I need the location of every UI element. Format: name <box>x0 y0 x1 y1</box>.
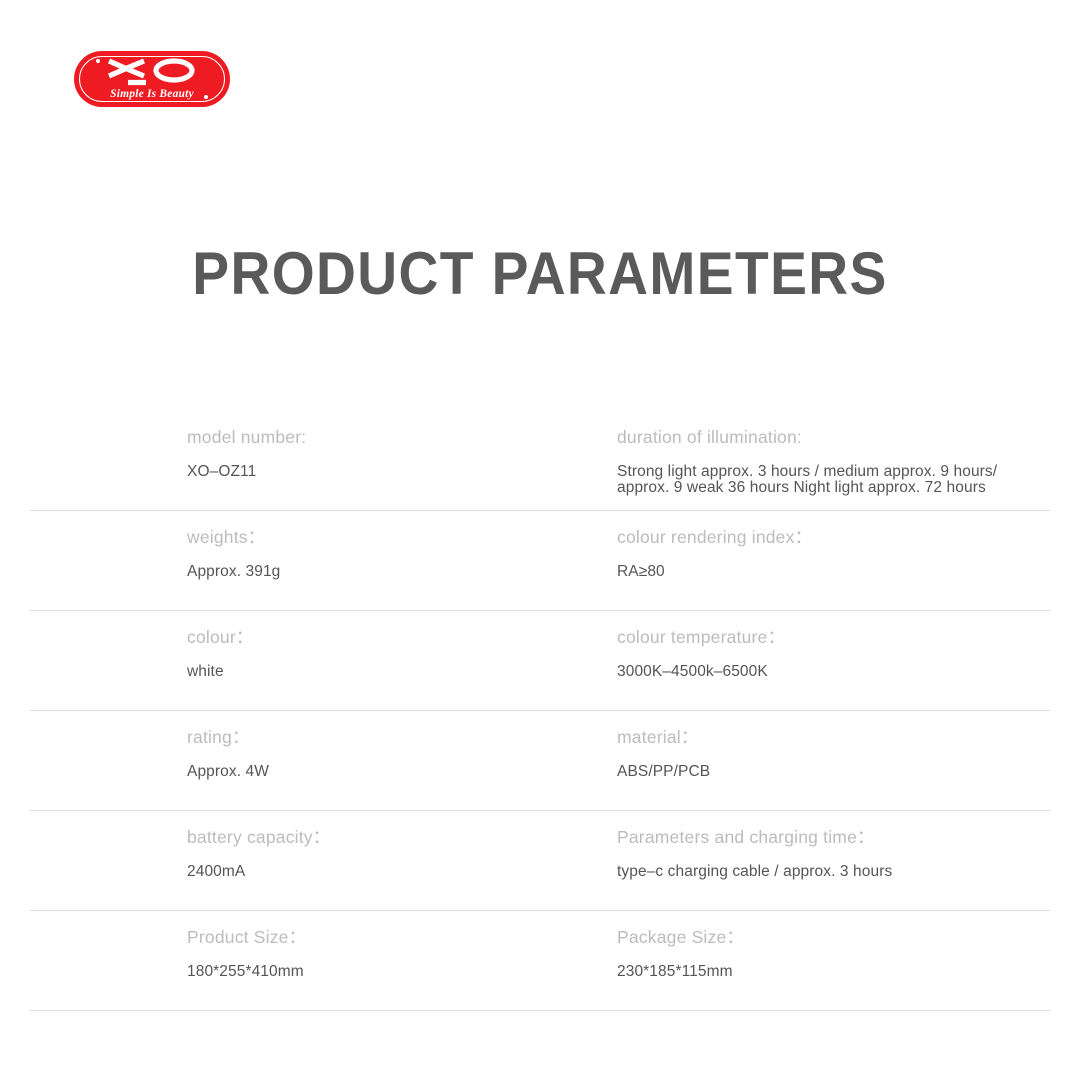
spec-label: colour rendering index： <box>617 526 812 548</box>
spec-cell-package-size: Package Size： 230*185*115mm <box>617 911 1050 1010</box>
spec-label: Product Size： <box>187 926 306 948</box>
spec-value: ABS/PP/PCB <box>617 763 710 780</box>
spec-value: 230*185*115mm <box>617 963 733 980</box>
spec-value: Approx. 391g <box>187 563 280 580</box>
spec-value: type–c charging cable / approx. 3 hours <box>617 863 892 880</box>
table-row: weights： Approx. 391g colour rendering i… <box>30 511 1050 611</box>
spec-cell-weights: weights： Approx. 391g <box>187 511 617 610</box>
spec-label: Parameters and charging time： <box>617 826 875 848</box>
logo-tagline: Simple Is Beauty <box>74 89 230 101</box>
spec-cell-colour-rendering-index: colour rendering index： RA≥80 <box>617 511 1050 610</box>
spec-cell-colour: colour： white <box>187 611 617 710</box>
spec-cell-battery-capacity: battery capacity： 2400mA <box>187 811 617 910</box>
spec-label: duration of illumination: <box>617 426 802 448</box>
spec-cell-material: material： ABS/PP/PCB <box>617 711 1050 810</box>
spec-cell-duration-of-illumination: duration of illumination: Strong light a… <box>617 411 1050 510</box>
xo-wordmark-icon <box>74 58 230 86</box>
table-row: Product Size： 180*255*410mm Package Size… <box>30 911 1050 1011</box>
spec-label: material： <box>617 726 699 748</box>
spec-value: 180*255*410mm <box>187 963 304 980</box>
spec-label: Package Size： <box>617 926 744 948</box>
spec-label: rating： <box>187 726 250 748</box>
spec-cell-model-number: model number: XO–OZ11 <box>187 411 617 510</box>
table-row: colour： white colour temperature： 3000K–… <box>30 611 1050 711</box>
spec-value: RA≥80 <box>617 563 665 580</box>
page-title: PRODUCT PARAMETERS <box>43 240 1037 308</box>
spec-cell-colour-temperature: colour temperature： 3000K–4500k–6500K <box>617 611 1050 710</box>
spec-label: weights： <box>187 526 265 548</box>
table-row: battery capacity： 2400mA Parameters and … <box>30 811 1050 911</box>
spec-label: colour temperature： <box>617 626 785 648</box>
spec-cell-product-size: Product Size： 180*255*410mm <box>187 911 617 1010</box>
spec-label: battery capacity： <box>187 826 330 848</box>
spec-value: white <box>187 663 224 680</box>
spec-value: 3000K–4500k–6500K <box>617 663 768 680</box>
spec-cell-rating: rating： Approx. 4W <box>187 711 617 810</box>
spec-value: 2400mA <box>187 863 245 880</box>
brand-logo: Simple Is Beauty <box>74 51 230 107</box>
table-row: rating： Approx. 4W material： ABS/PP/PCB <box>30 711 1050 811</box>
product-parameters-table: model number: XO–OZ11 duration of illumi… <box>30 411 1050 1011</box>
spec-value: Approx. 4W <box>187 763 269 780</box>
spec-cell-parameters-and-charging-time: Parameters and charging time： type–c cha… <box>617 811 1050 910</box>
spec-label: model number: <box>187 426 306 448</box>
spec-value: Strong light approx. 3 hours / medium ap… <box>617 464 1037 496</box>
spec-value: XO–OZ11 <box>187 463 256 480</box>
spec-label: colour： <box>187 626 254 648</box>
table-row: model number: XO–OZ11 duration of illumi… <box>30 411 1050 511</box>
